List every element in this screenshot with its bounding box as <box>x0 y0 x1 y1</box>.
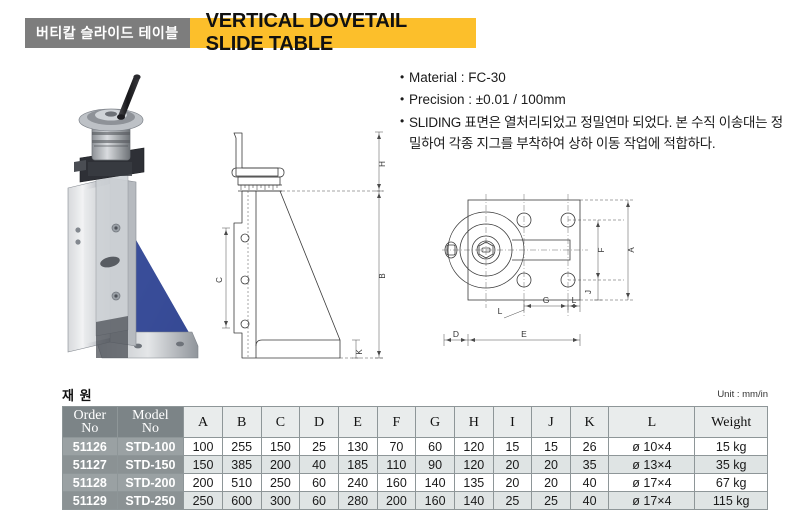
spec-item-precision: • Precision : ±0.01 / 100mm <box>400 90 792 109</box>
cell-e: 240 <box>338 474 377 492</box>
side-view-drawing: H B C K <box>212 128 407 373</box>
cell-b: 255 <box>222 438 261 456</box>
col-header-weight: Weight <box>695 407 768 438</box>
cell-i: 25 <box>493 492 532 510</box>
cell-order-no: 51128 <box>63 474 118 492</box>
col-header-i: I <box>493 407 532 438</box>
english-title: VERTICAL DOVETAIL SLIDE TABLE <box>190 18 476 48</box>
cell-e: 280 <box>338 492 377 510</box>
col-header-k: K <box>570 407 609 438</box>
korean-title-tag: 버티칼 슬라이드 테이블 <box>25 18 190 48</box>
col-label: ModelNo <box>132 408 169 436</box>
cell-f: 110 <box>377 456 416 474</box>
cell-f: 160 <box>377 474 416 492</box>
cell-weight: 35 kg <box>695 456 768 474</box>
cell-model-no: STD-200 <box>117 474 184 492</box>
cell-h: 135 <box>454 474 493 492</box>
dim-label-B: B <box>378 273 387 278</box>
col-header-order-no: OrderNo <box>63 407 118 438</box>
page-header: 버티칼 슬라이드 테이블 VERTICAL DOVETAIL SLIDE TAB… <box>25 18 476 48</box>
table-header-row: OrderNo ModelNo A B C D E F G H I J K L … <box>63 407 768 438</box>
dim-label-D: D <box>453 329 459 339</box>
dim-label-K: K <box>355 349 364 355</box>
dim-label-G: G <box>543 295 550 305</box>
plan-view-drawing: F A J L G L D E <box>438 188 663 373</box>
cell-model-no: STD-100 <box>117 438 184 456</box>
col-header-e: E <box>338 407 377 438</box>
cell-order-no: 51127 <box>63 456 118 474</box>
cell-k: 35 <box>570 456 609 474</box>
cell-a: 200 <box>184 474 223 492</box>
cell-h: 120 <box>454 456 493 474</box>
col-label: OrderNo <box>74 408 107 436</box>
col-header-model-no: ModelNo <box>117 407 184 438</box>
bullet-icon: • <box>400 68 409 87</box>
product-photo <box>40 70 225 370</box>
cell-l: ø 17×4 <box>609 492 695 510</box>
dim-label-L-left: L <box>498 306 503 316</box>
col-header-h: H <box>454 407 493 438</box>
cell-g: 60 <box>416 438 455 456</box>
cell-weight: 115 kg <box>695 492 768 510</box>
cell-h: 140 <box>454 492 493 510</box>
side-view-image: H B C K <box>212 128 407 373</box>
cell-f: 200 <box>377 492 416 510</box>
cell-order-no: 51129 <box>63 492 118 510</box>
dim-label-L-right: L <box>572 295 577 305</box>
col-header-f: F <box>377 407 416 438</box>
cell-d: 60 <box>300 474 339 492</box>
cell-g: 140 <box>416 474 455 492</box>
spec-text-precision: Precision : ±0.01 / 100mm <box>409 90 792 109</box>
col-header-a: A <box>184 407 223 438</box>
cell-j: 15 <box>532 438 571 456</box>
dim-label-A: A <box>627 247 636 253</box>
dim-label-H: H <box>378 161 387 167</box>
cell-d: 40 <box>300 456 339 474</box>
specifications-table: OrderNo ModelNo A B C D E F G H I J K L … <box>62 406 768 510</box>
cell-h: 120 <box>454 438 493 456</box>
cell-k: 26 <box>570 438 609 456</box>
cell-g: 160 <box>416 492 455 510</box>
cell-l: ø 17×4 <box>609 474 695 492</box>
table-row: 51127 STD-150 150 385 200 40 185 110 90 … <box>63 456 768 474</box>
cell-a: 250 <box>184 492 223 510</box>
spec-item-material: • Material : FC-30 <box>400 68 792 87</box>
cell-l: ø 10×4 <box>609 438 695 456</box>
cell-weight: 15 kg <box>695 438 768 456</box>
table-row: 51129 STD-250 250 600 300 60 280 200 160… <box>63 492 768 510</box>
cell-d: 25 <box>300 438 339 456</box>
product-photo-image <box>40 70 225 370</box>
dim-label-F: F <box>597 247 606 252</box>
table-row: 51126 STD-100 100 255 150 25 130 70 60 1… <box>63 438 768 456</box>
cell-e: 130 <box>338 438 377 456</box>
col-header-j: J <box>532 407 571 438</box>
spec-item-sliding: • SLIDING 표면은 열처리되었고 정밀연마 되었다. 본 수직 이송대는… <box>400 112 792 154</box>
cell-b: 385 <box>222 456 261 474</box>
table-row: 51128 STD-200 200 510 250 60 240 160 140… <box>63 474 768 492</box>
bullet-icon: • <box>400 90 409 109</box>
cell-c: 150 <box>261 438 300 456</box>
cell-k: 40 <box>570 492 609 510</box>
plan-view-image: F A J L G L D E <box>438 188 663 373</box>
cell-i: 20 <box>493 474 532 492</box>
cell-b: 600 <box>222 492 261 510</box>
col-header-l: L <box>609 407 695 438</box>
spec-text-material: Material : FC-30 <box>409 68 792 87</box>
cell-i: 15 <box>493 438 532 456</box>
cell-model-no: STD-150 <box>117 456 184 474</box>
cell-j: 25 <box>532 492 571 510</box>
cell-order-no: 51126 <box>63 438 118 456</box>
col-header-c: C <box>261 407 300 438</box>
col-header-b: B <box>222 407 261 438</box>
cell-a: 100 <box>184 438 223 456</box>
col-header-d: D <box>300 407 339 438</box>
cell-b: 510 <box>222 474 261 492</box>
cell-l: ø 13×4 <box>609 456 695 474</box>
cell-j: 20 <box>532 456 571 474</box>
cell-a: 150 <box>184 456 223 474</box>
unit-note: Unit : mm/in <box>717 389 768 400</box>
cell-f: 70 <box>377 438 416 456</box>
cell-c: 200 <box>261 456 300 474</box>
cell-c: 250 <box>261 474 300 492</box>
dim-label-E: E <box>521 329 527 339</box>
cell-k: 40 <box>570 474 609 492</box>
dim-label-J: J <box>584 290 593 294</box>
cell-model-no: STD-250 <box>117 492 184 510</box>
cell-i: 20 <box>493 456 532 474</box>
table-caption: 재 원 <box>62 385 93 404</box>
dim-label-C: C <box>215 277 224 283</box>
cell-c: 300 <box>261 492 300 510</box>
cell-g: 90 <box>416 456 455 474</box>
cell-d: 60 <box>300 492 339 510</box>
cell-e: 185 <box>338 456 377 474</box>
col-header-g: G <box>416 407 455 438</box>
specification-list: • Material : FC-30 • Precision : ±0.01 /… <box>400 68 792 157</box>
spec-text-sliding: SLIDING 표면은 열처리되었고 정밀연마 되었다. 본 수직 이송대는 정… <box>409 112 792 154</box>
cell-j: 20 <box>532 474 571 492</box>
cell-weight: 67 kg <box>695 474 768 492</box>
